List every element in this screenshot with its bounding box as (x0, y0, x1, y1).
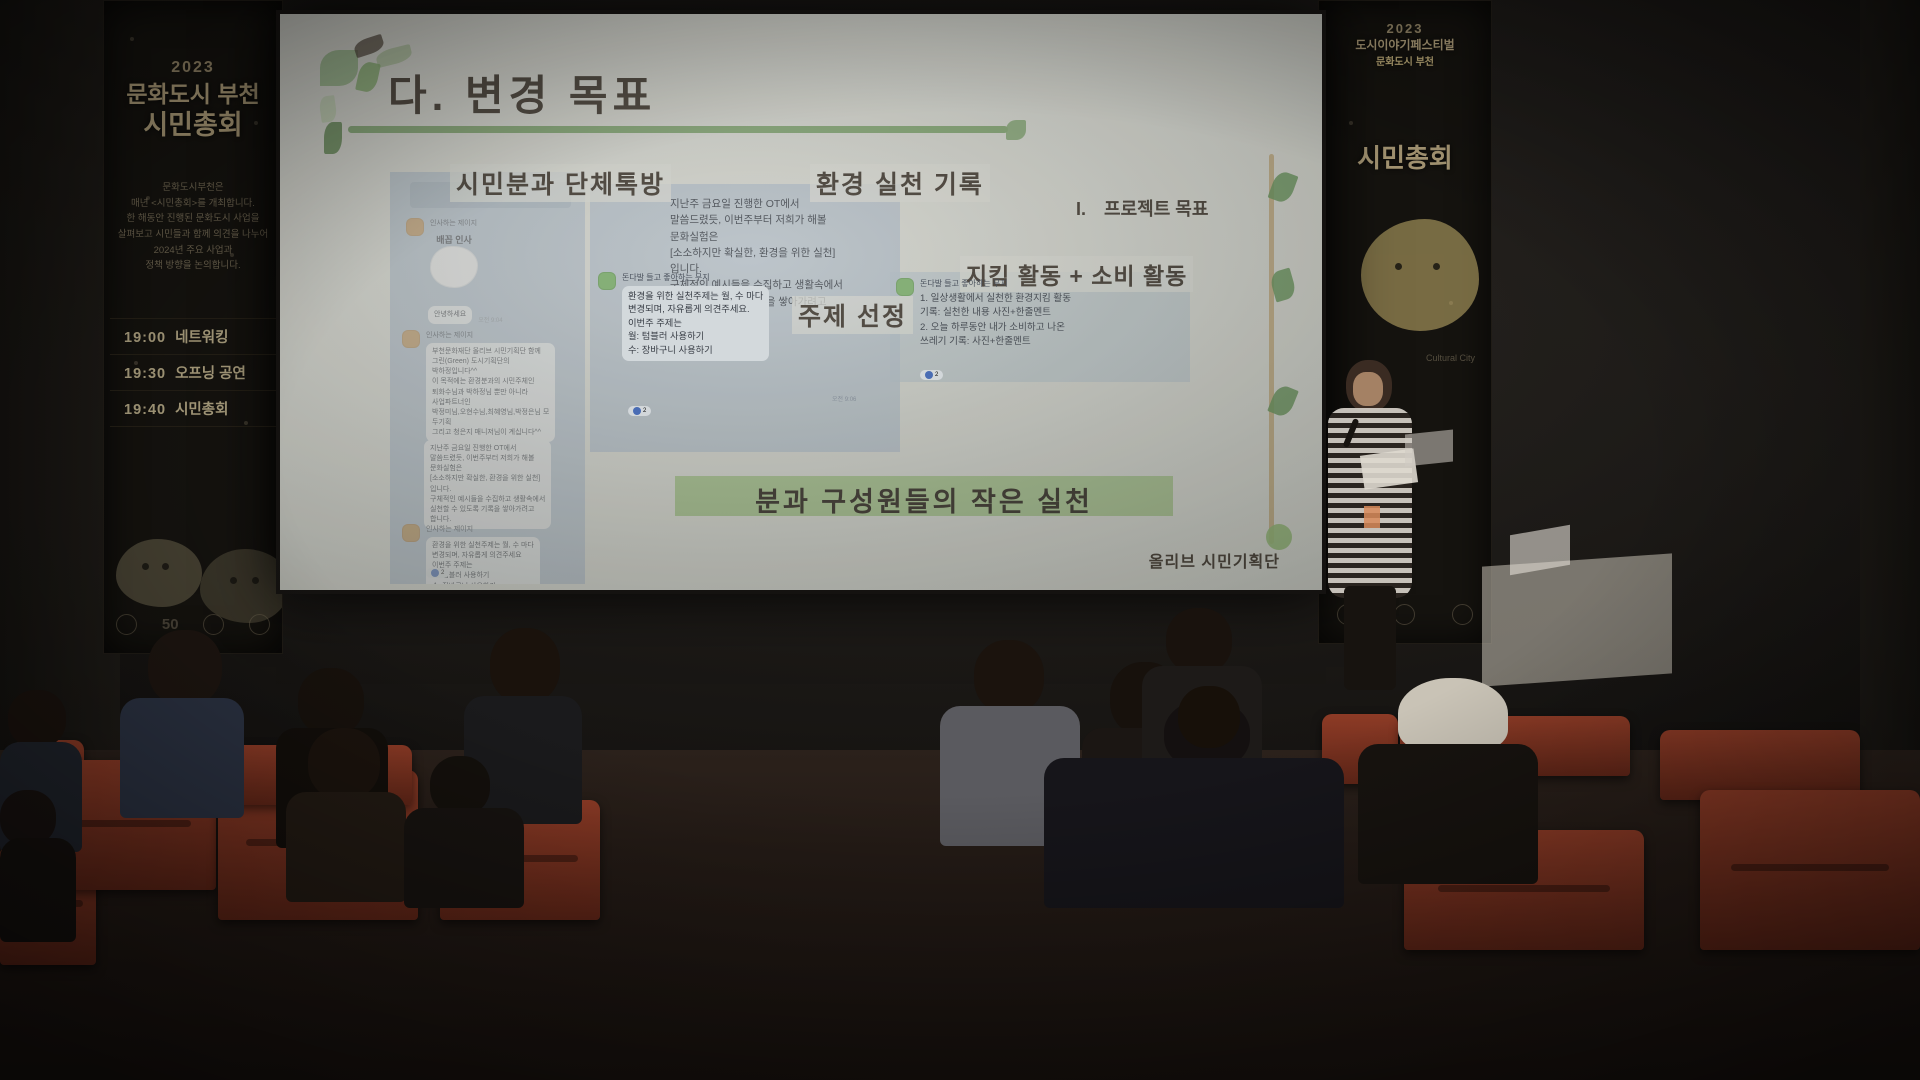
goal-roman-numeral: I. (1076, 199, 1086, 219)
avatar (402, 524, 420, 542)
leaf-icon-4 (318, 95, 337, 123)
audience-member (1358, 678, 1538, 878)
sprig-icon (320, 50, 358, 86)
schedule-row-opening: 19:30오프닝 공연 (110, 354, 276, 390)
schedule-time-2: 19:30 (124, 366, 166, 382)
presenter-body (1328, 408, 1412, 598)
schedule-label-2: 오프닝 공연 (175, 366, 246, 382)
summary-band-text: 분과 구성원들의 작은 실천 (684, 480, 1164, 519)
chat-message-record: 돈다발 들고 좋아하는 무지 1. 일상생활에서 실천한 환경지킴 활동 기록:… (896, 278, 1192, 350)
left-banner-title-line2: 시민총회 (104, 110, 282, 142)
vine-stem (1269, 154, 1274, 544)
chat-sender-name: 인사하는 제이지 (426, 524, 540, 534)
avatar (406, 218, 424, 236)
chat-sender-name: 인사하는 제이지 (430, 218, 478, 228)
left-event-banner: 2023 문화도시 부천 시민총회 문화도시부천은 매년 <시민총회>를 개최합… (103, 0, 283, 654)
right-banner-title: 시민총회 (1319, 143, 1491, 174)
slide-footer-credit: 올리브 시민기획단 (1149, 548, 1280, 572)
mascot-blob-right (1361, 219, 1479, 331)
like-icon (633, 407, 641, 415)
schedule-time-3: 19:40 (124, 402, 166, 418)
right-banner-year: 2023 (1319, 21, 1491, 36)
vine-berry-icon (1266, 524, 1292, 550)
avatar (598, 272, 616, 290)
partner-logo-icon-6 (1452, 604, 1473, 625)
left-banner-description: 문화도시부천은 매년 <시민총회>를 개최합니다. 한 해동안 진행된 문화도시… (104, 180, 282, 274)
chat-timestamp-1: 오전 9:04 (478, 315, 502, 324)
presenter-face (1353, 372, 1383, 406)
name-badge (1364, 506, 1380, 528)
chat-message-muzi: 돈다발 들고 좋아하는 무지 환경을 위한 실천주제는 월, 수 마다 변경되며… (598, 272, 878, 361)
reaction-count: 2 (643, 408, 646, 414)
leaf-icon-5 (324, 122, 342, 154)
chat-timestamp-2: 오전 9:06 (832, 394, 856, 403)
right-banner-badge: 문화도시 부천 (1319, 57, 1491, 69)
seat (1700, 790, 1920, 950)
avatar (402, 330, 420, 348)
presenter-figure (1318, 360, 1422, 690)
record-activity-list: 1. 일상생활에서 실천한 환경지킴 활동 기록: 실천한 내용 사진+한줄멘트… (920, 292, 1071, 350)
presenter-legs (1344, 586, 1396, 690)
heading-record: 환경 실천 기록 (810, 164, 990, 202)
wall-panel-right (1860, 0, 1920, 800)
mascot-blob-left-2 (200, 549, 283, 623)
like-icon (431, 569, 439, 577)
chat-reaction-middle[interactable]: 2 (628, 406, 651, 416)
schedule-row-assembly: 19:40시민총회 (110, 390, 276, 427)
chat-message-4: 지난주 금요일 진행한 OT에서 말씀드렸듯, 이번주부터 저희가 해볼 문화실… (424, 440, 580, 529)
audience-member (286, 728, 404, 888)
reaction-count: 2 (935, 372, 938, 378)
right-banner-tagline: Cultural City (1426, 353, 1475, 363)
chat-message-3: 인사하는 제이지 부천문화재단 올리브 시민기획단 함께 그린(Green) 도… (402, 330, 580, 442)
right-banner-subtitle: 도시이야기페스티벌 (1319, 38, 1491, 52)
mascot-blob-left (116, 539, 202, 607)
slide-canvas: 다. 변경 목표 인사하는 제이지 배꼽 인사 안녕하세요 (280, 14, 1322, 590)
audience-member (1168, 686, 1258, 776)
schedule-label-3: 시민총회 (175, 402, 228, 418)
chat-message-2: 안녕하세요 오전 9:04 (428, 306, 503, 324)
podium-laptop (1405, 429, 1453, 466)
slide-title: 다. 변경 목표 (388, 62, 656, 123)
chat-message-1: 인사하는 제이지 배꼽 인사 (406, 218, 576, 288)
bear-sticker-icon (430, 246, 478, 288)
sticker-caption: 배꼽 인사 (436, 233, 472, 246)
schedule-time-1: 19:00 (124, 330, 166, 346)
chat-reaction-left[interactable]: 2 (426, 568, 449, 578)
wall-panel-left (0, 0, 120, 800)
like-icon (925, 371, 933, 379)
goal-label: 프로젝트 목표 (1104, 199, 1208, 219)
chat-bubble-experiment: 지난주 금요일 진행한 OT에서 말씀드렸듯, 이번주부터 저희가 해볼 문화실… (424, 440, 551, 529)
projection-screen: 다. 변경 목표 인사하는 제이지 배꼽 인사 안녕하세요 (276, 10, 1326, 594)
chat-bubble-topics: 환경을 위한 실천주제는 월, 수 마다 변경되며, 자유롭게 의견주세요. 이… (622, 286, 769, 361)
chat-bubble-intro: 부천문화재단 올리브 시민기획단 함께 그린(Green) 도시기획단의 박하정… (426, 343, 555, 442)
left-banner-schedule: 19:00네트워킹 19:30오프닝 공연 19:40시민총회 (104, 318, 282, 427)
schedule-label-1: 네트워킹 (175, 330, 228, 346)
reaction-count: 2 (441, 570, 444, 576)
audience-member (404, 756, 524, 896)
chat-reaction-right[interactable]: 2 (920, 370, 943, 380)
schedule-row-networking: 19:00네트워킹 (110, 318, 276, 354)
heading-chat-room: 시민분과 단체톡방 (450, 164, 671, 202)
left-banner-title-line1: 문화도시 부천 (104, 81, 282, 108)
goal-item-row: I.프로젝트 목표 (1070, 194, 1214, 222)
avatar (896, 278, 914, 296)
audience-member (120, 630, 240, 810)
partner-logo-icon-3 (249, 614, 270, 635)
chat-screenshot-left: 인사하는 제이지 배꼽 인사 안녕하세요 오전 9:04 인사하는 제이지 (390, 172, 585, 584)
chat-sender-name: 돈다발 들고 좋아하는 무지 (920, 278, 1071, 289)
title-underline-rule (348, 126, 1008, 133)
left-banner-year: 2023 (104, 59, 282, 77)
audience-member (0, 790, 74, 940)
leaf-icon-3 (355, 60, 381, 94)
chat-sender-name: 인사하는 제이지 (426, 330, 555, 340)
chat-bubble-greeting: 안녕하세요 (428, 306, 472, 324)
screenshot-stage: 2023 문화도시 부천 시민총회 문화도시부천은 매년 <시민총회>를 개최합… (0, 0, 1920, 1080)
chat-sender-name: 돈다발 들고 좋아하는 무지 (622, 272, 769, 283)
